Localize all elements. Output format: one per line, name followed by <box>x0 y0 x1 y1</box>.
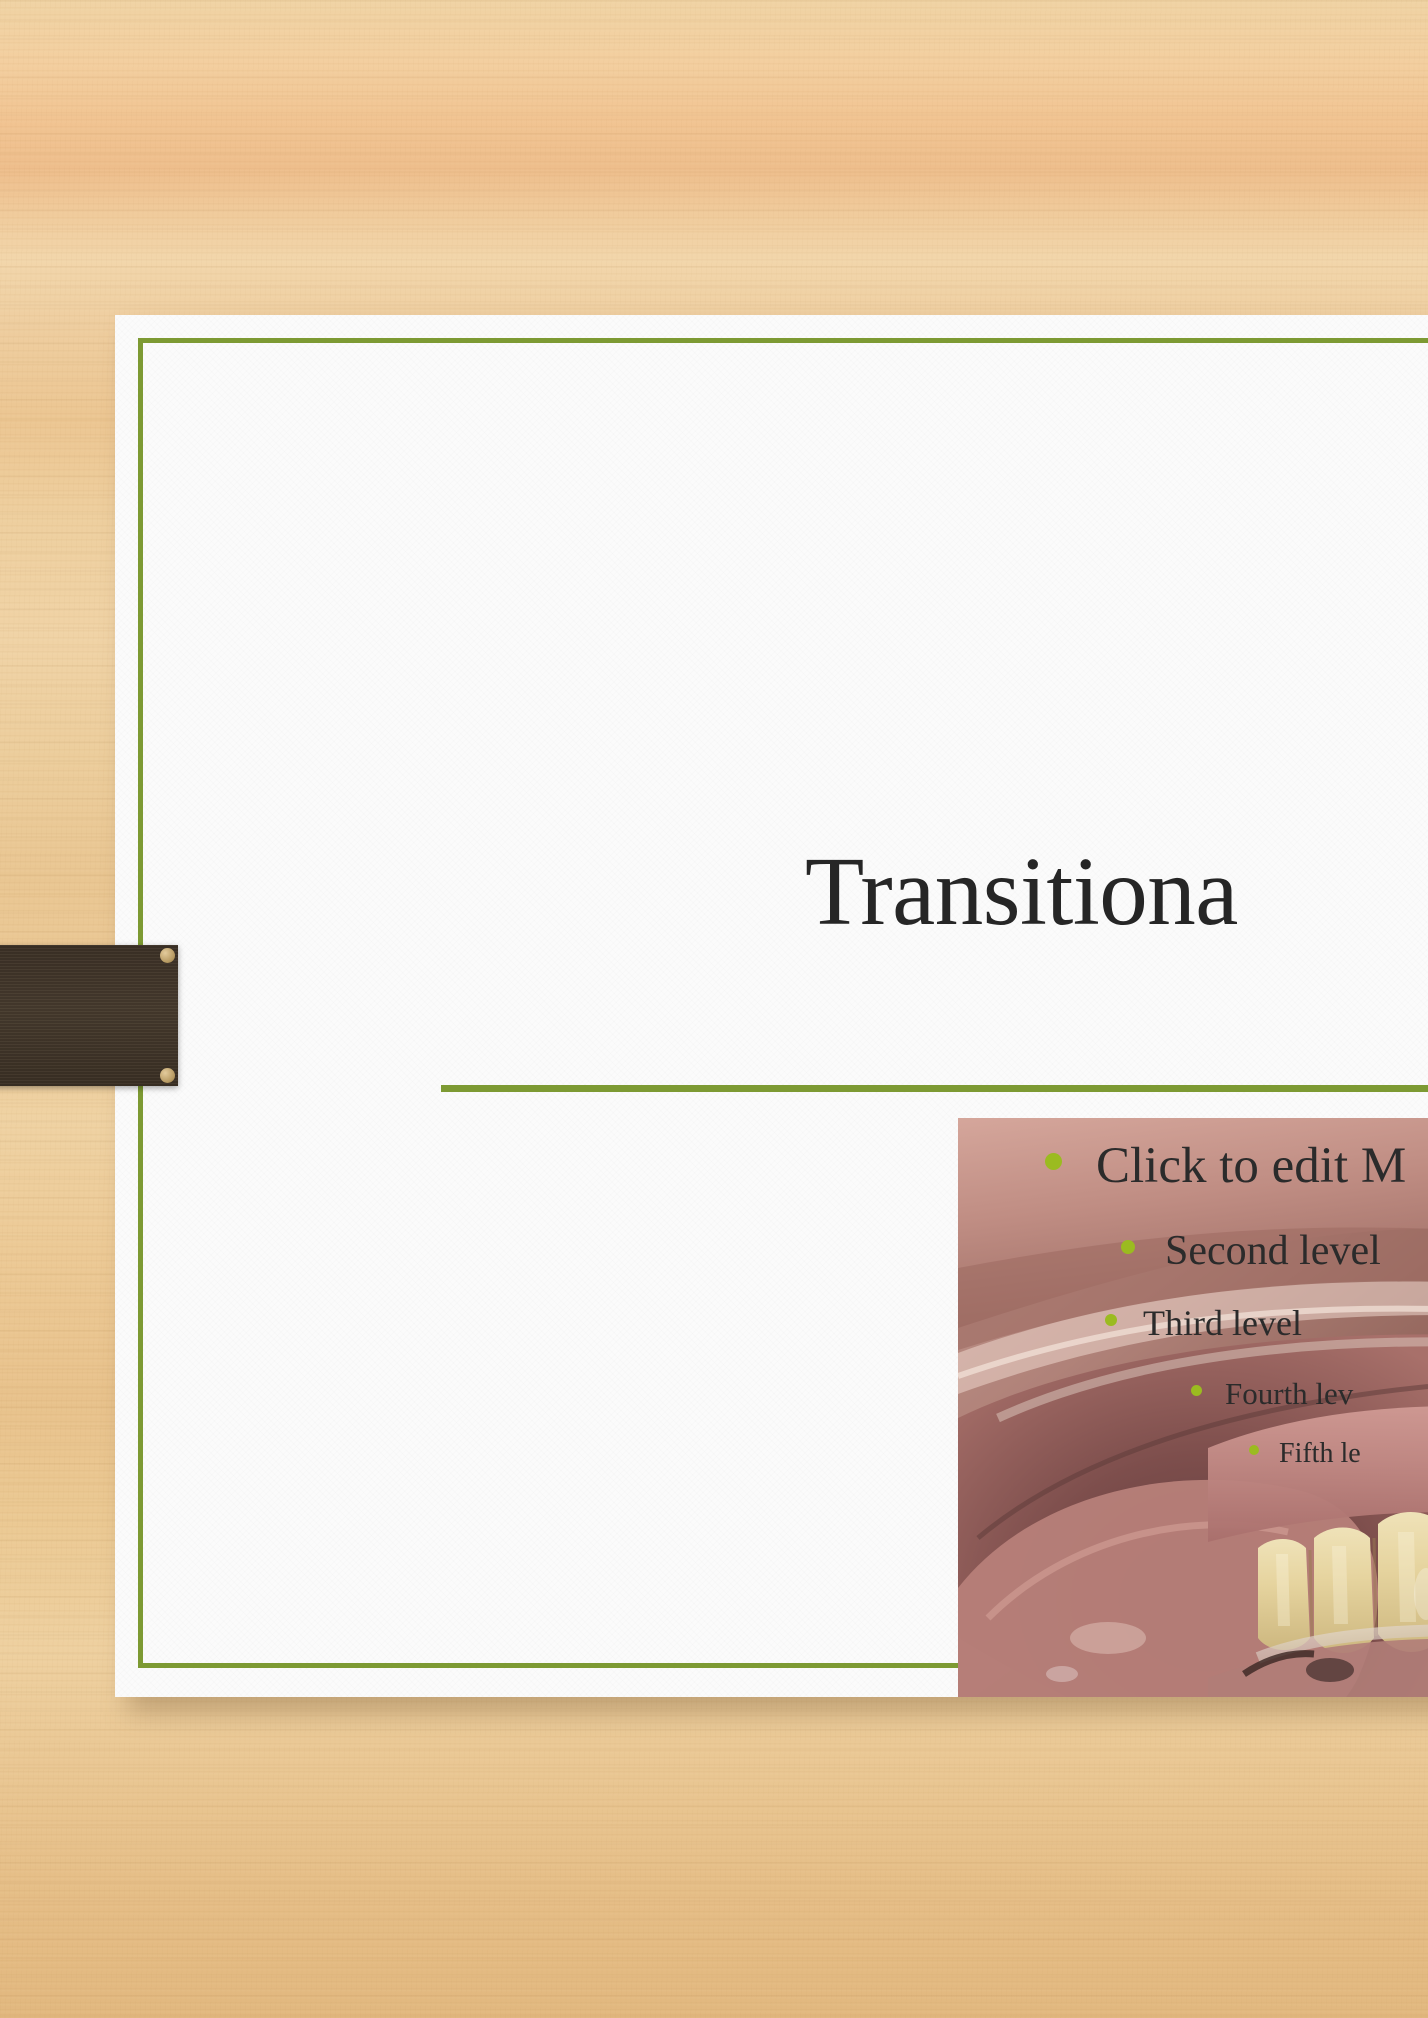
bullet-dot-icon <box>1121 1240 1135 1254</box>
bullet-dot-icon <box>1045 1153 1062 1170</box>
list-item-label: Fourth lev <box>1225 1371 1353 1418</box>
list-item-label: Third level <box>1143 1297 1302 1349</box>
list-item-label: Fifth le <box>1279 1432 1361 1475</box>
list-spacer <box>1045 1349 1428 1371</box>
list-item-level-1[interactable]: Click to edit M <box>1045 1133 1428 1200</box>
bullet-dot-icon <box>1249 1445 1259 1455</box>
bullet-dot-icon <box>1191 1385 1202 1396</box>
left-wooden-tab[interactable] <box>0 945 178 1086</box>
tab-bolt-icon <box>160 1068 175 1083</box>
slide-canvas: Transitiona <box>115 315 1428 1697</box>
bullet-dot-icon <box>1105 1314 1117 1326</box>
list-spacer <box>1045 1418 1428 1432</box>
list-spacer <box>1045 1200 1428 1222</box>
list-item-level-2[interactable]: Second level <box>1121 1222 1428 1281</box>
list-item-level-5[interactable]: Fifth le <box>1249 1432 1428 1475</box>
title-divider-rule <box>441 1085 1428 1092</box>
list-item-level-4[interactable]: Fourth lev <box>1191 1371 1428 1418</box>
slide-title[interactable]: Transitiona <box>805 841 1238 943</box>
slide-stage: Transitiona <box>0 0 1428 2018</box>
tab-bolt-icon <box>160 948 175 963</box>
list-item-label: Second level <box>1165 1222 1381 1281</box>
list-item-label: Click to edit M <box>1096 1133 1406 1200</box>
list-item-level-3[interactable]: Third level <box>1105 1297 1428 1349</box>
list-spacer <box>1045 1281 1428 1297</box>
body-placeholder-list[interactable]: Click to edit M Second level Third level… <box>1045 1133 1428 1475</box>
